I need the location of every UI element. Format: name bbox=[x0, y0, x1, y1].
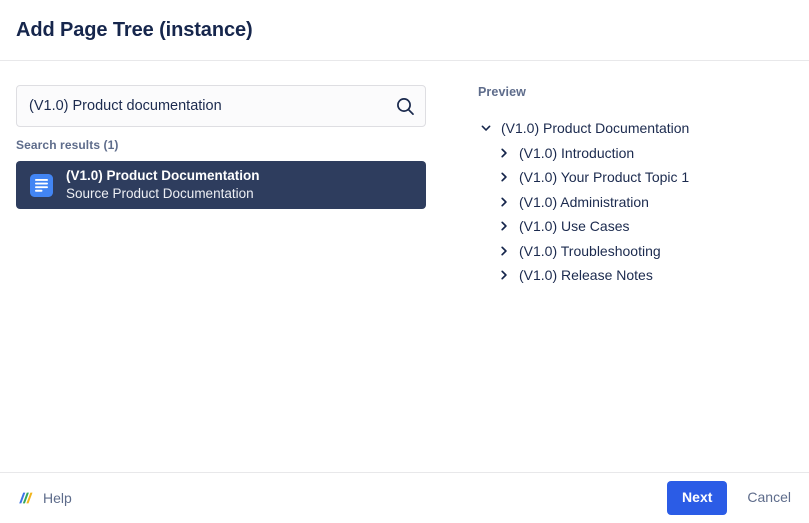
tree-node-label: (V1.0) Use Cases bbox=[519, 219, 629, 233]
chevron-right-icon[interactable] bbox=[496, 145, 512, 161]
tree-node-troubleshooting[interactable]: (V1.0) Troubleshooting bbox=[478, 239, 793, 264]
tree-node-root[interactable]: (V1.0) Product Documentation bbox=[478, 116, 793, 141]
list-item[interactable]: (V1.0) Product Documentation Source Prod… bbox=[16, 161, 426, 209]
search-pane: Search results (1) (V1.0) Product Docume… bbox=[16, 85, 433, 209]
tree-node-label: (V1.0) Product Documentation bbox=[501, 121, 689, 135]
scroll-viewport-logo-icon bbox=[16, 490, 34, 506]
add-page-tree-dialog: Add Page Tree (instance) Search results … bbox=[0, 0, 809, 523]
preview-pane: Preview (V1.0) Product Documentation bbox=[433, 85, 793, 288]
chevron-right-icon[interactable] bbox=[496, 267, 512, 283]
chevron-right-icon[interactable] bbox=[496, 194, 512, 210]
list-item-title: (V1.0) Product Documentation bbox=[66, 167, 260, 185]
dialog-footer: Help Next Cancel bbox=[0, 472, 809, 523]
footer-actions: Next Cancel bbox=[667, 481, 793, 515]
tree-node-your-product-topic-1[interactable]: (V1.0) Your Product Topic 1 bbox=[478, 165, 793, 190]
next-button[interactable]: Next bbox=[667, 481, 727, 515]
tree-node-use-cases[interactable]: (V1.0) Use Cases bbox=[478, 214, 793, 239]
chevron-right-icon[interactable] bbox=[496, 218, 512, 234]
document-icon bbox=[28, 172, 54, 198]
search-icon[interactable] bbox=[394, 95, 416, 117]
list-item-subtitle: Source Product Documentation bbox=[66, 185, 260, 203]
preview-label: Preview bbox=[478, 85, 793, 99]
tree-node-label: (V1.0) Introduction bbox=[519, 146, 634, 160]
help-link[interactable]: Help bbox=[16, 490, 72, 506]
list-item-text: (V1.0) Product Documentation Source Prod… bbox=[66, 167, 260, 203]
tree-node-label: (V1.0) Troubleshooting bbox=[519, 244, 661, 258]
page-title: Add Page Tree (instance) bbox=[16, 18, 253, 42]
tree-node-introduction[interactable]: (V1.0) Introduction bbox=[478, 141, 793, 166]
dialog-body: Search results (1) (V1.0) Product Docume… bbox=[0, 61, 809, 472]
tree-node-label: (V1.0) Release Notes bbox=[519, 268, 653, 282]
cancel-button[interactable]: Cancel bbox=[745, 481, 793, 515]
chevron-right-icon[interactable] bbox=[496, 243, 512, 259]
search-results-count: Search results (1) bbox=[16, 138, 433, 152]
tree-node-label: (V1.0) Administration bbox=[519, 195, 649, 209]
help-label: Help bbox=[43, 490, 72, 506]
preview-tree: (V1.0) Product Documentation (V1.0) Intr… bbox=[478, 116, 793, 288]
tree-node-release-notes[interactable]: (V1.0) Release Notes bbox=[478, 263, 793, 288]
dialog-header: Add Page Tree (instance) bbox=[0, 0, 809, 61]
chevron-down-icon[interactable] bbox=[478, 120, 494, 136]
search-field[interactable] bbox=[16, 85, 426, 127]
search-input[interactable] bbox=[17, 86, 425, 126]
tree-node-label: (V1.0) Your Product Topic 1 bbox=[519, 170, 689, 184]
chevron-right-icon[interactable] bbox=[496, 169, 512, 185]
tree-node-administration[interactable]: (V1.0) Administration bbox=[478, 190, 793, 215]
